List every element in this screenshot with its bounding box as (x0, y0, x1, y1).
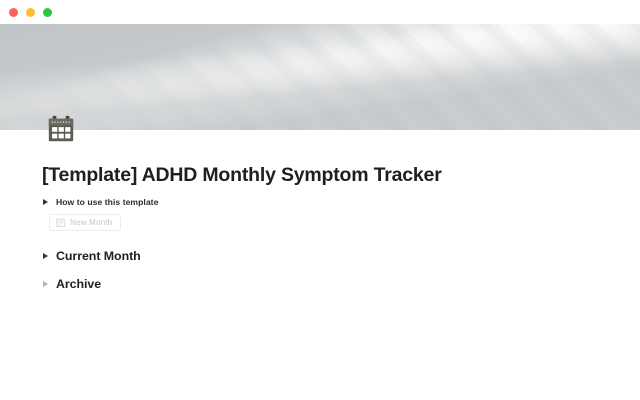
chevron-right-icon[interactable] (43, 199, 48, 205)
minimize-window-button[interactable] (26, 8, 35, 17)
chevron-right-icon[interactable] (43, 281, 48, 287)
maximize-window-button[interactable] (43, 8, 52, 17)
toggle-how-to-use-label: How to use this template (56, 197, 158, 207)
page-icon-calendar[interactable] (46, 114, 76, 144)
calendar-icon (56, 218, 65, 227)
new-month-button[interactable]: New Month (49, 214, 121, 231)
new-month-button-row: New Month (42, 214, 600, 232)
toggle-how-to-use[interactable]: How to use this template (42, 197, 600, 207)
chevron-right-icon[interactable] (43, 253, 48, 259)
calendar-icon (46, 114, 76, 144)
page-cover-image[interactable] (0, 24, 640, 130)
new-month-button-label: New Month (70, 219, 112, 227)
toggle-current-month[interactable]: Current Month (42, 249, 600, 263)
cover-texture-graphic (0, 24, 640, 130)
toggle-archive-label: Archive (56, 277, 101, 291)
page-content-area: [Template] ADHD Monthly Symptom Tracker … (0, 130, 640, 400)
toggle-current-month-label: Current Month (56, 249, 141, 263)
toggle-archive[interactable]: Archive (42, 277, 600, 291)
close-window-button[interactable] (9, 8, 18, 17)
page-title: [Template] ADHD Monthly Symptom Tracker (42, 130, 600, 187)
window-traffic-lights (9, 8, 52, 17)
window-titlebar (0, 0, 640, 24)
